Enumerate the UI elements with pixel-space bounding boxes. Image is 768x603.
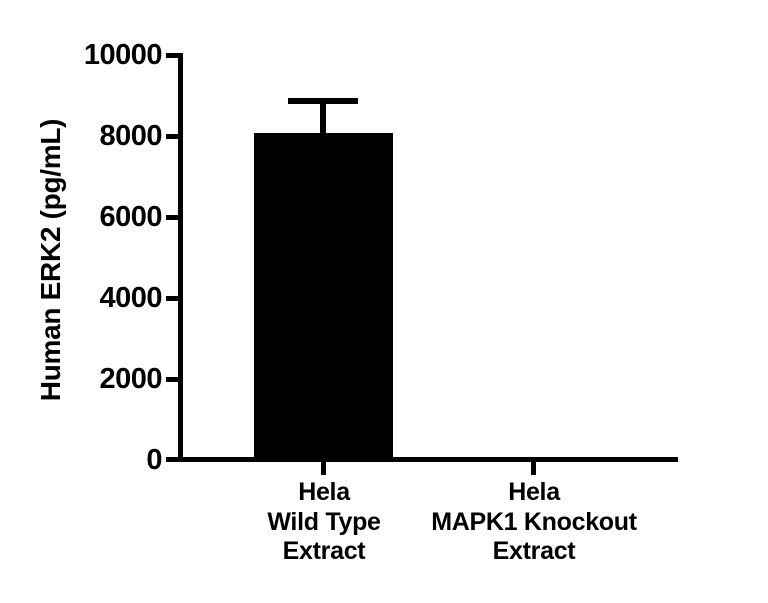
- x-tick-label-line-3: Extract: [209, 537, 439, 567]
- error-bar-stem-hela-wild-type-extract: [320, 101, 326, 139]
- bar-hela-wild-type-extract[interactable]: [254, 133, 393, 457]
- x-tick-label-hela-wild-type-extract: Hela Wild Type Extract: [209, 478, 439, 567]
- y-tick-label-0: 0: [36, 446, 162, 475]
- bar-chart-figure: Human ERK2 (pg/mL) 10000 8000 6000 4000 …: [0, 0, 768, 603]
- x-tick-label-line-1: Hela: [419, 478, 649, 508]
- x-tick-mark-hela-wild-type-extract: [321, 462, 326, 475]
- x-tick-label-line-3: Extract: [419, 537, 649, 567]
- y-tick-label-6000: 6000: [36, 203, 162, 232]
- y-tick-label-10000: 10000: [36, 41, 162, 70]
- y-tick-label-2000: 2000: [36, 365, 162, 394]
- x-tick-label-hela-mapk1-knockout-extract: Hela MAPK1 Knockout Extract: [419, 478, 649, 567]
- error-bar-cap-hela-wild-type-extract: [288, 98, 358, 104]
- y-tick-label-4000: 4000: [36, 284, 162, 313]
- x-tick-label-line-1: Hela: [209, 478, 439, 508]
- x-tick-label-line-2: Wild Type: [209, 508, 439, 538]
- x-axis-spine: [178, 457, 678, 462]
- y-tick-label-8000: 8000: [36, 122, 162, 151]
- y-axis-title: Human ERK2 (pg/mL): [21, 50, 81, 470]
- y-axis-spine: [178, 53, 183, 462]
- x-tick-mark-hela-mapk1-knockout-extract: [531, 462, 536, 475]
- x-tick-label-line-2: MAPK1 Knockout: [419, 508, 649, 538]
